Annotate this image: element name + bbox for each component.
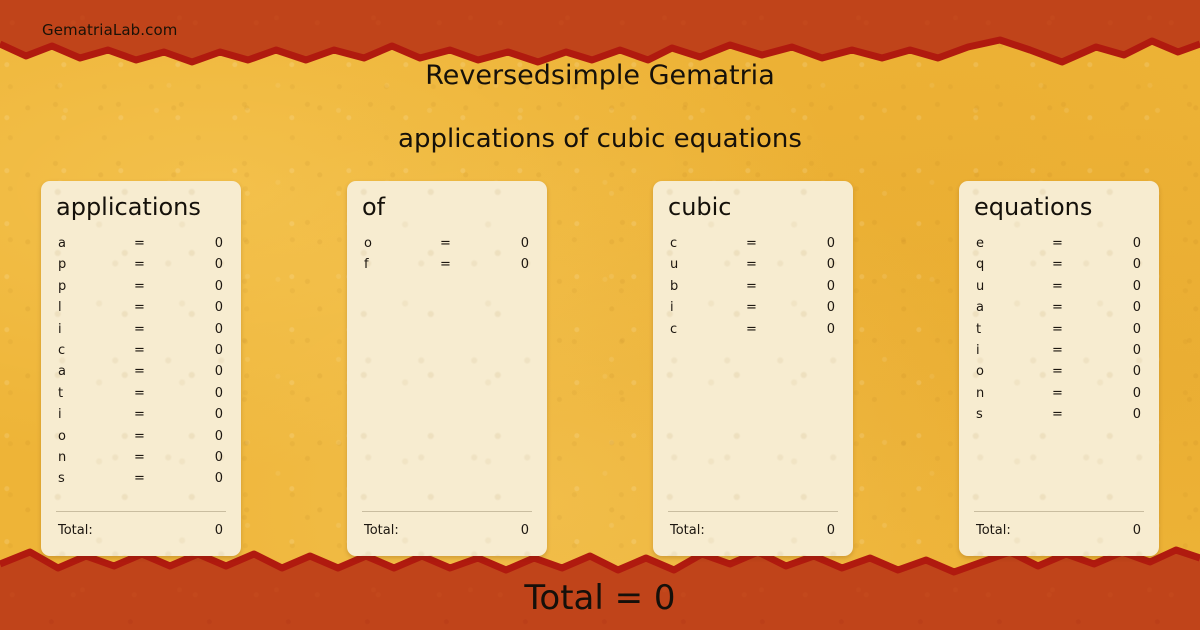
letter-label: u: [976, 279, 984, 294]
equals-sign: =: [1052, 343, 1063, 358]
letter-value: 0: [215, 300, 223, 315]
letter-value: 0: [827, 279, 835, 294]
letter-value: 0: [1133, 236, 1141, 251]
letter-row: e=0: [974, 236, 1144, 257]
card-total-label: Total:: [364, 523, 399, 538]
letter-value: 0: [1133, 364, 1141, 379]
card-total-value: 0: [521, 523, 529, 538]
card-total-label: Total:: [58, 523, 93, 538]
letter-value: 0: [215, 429, 223, 444]
site-brand[interactable]: GematriaLab.com: [42, 21, 177, 39]
letter-value: 0: [215, 471, 223, 486]
equals-sign: =: [134, 279, 145, 294]
letter-label: a: [58, 364, 66, 379]
equals-sign: =: [134, 429, 145, 444]
equals-sign: =: [746, 279, 757, 294]
grand-total: Total = 0: [0, 578, 1200, 618]
letter-row: f=0: [362, 257, 532, 278]
letter-label: o: [364, 236, 372, 251]
letter-value: 0: [215, 257, 223, 272]
letter-label: a: [58, 236, 66, 251]
card-divider: [56, 511, 226, 512]
card-content: ofo=0f=0Total:0: [347, 181, 547, 556]
equals-sign: =: [746, 236, 757, 251]
letter-value: 0: [1133, 257, 1141, 272]
word-card: cubicc=0u=0b=0i=0c=0Total:0: [653, 181, 853, 556]
equals-sign: =: [134, 343, 145, 358]
letter-row: o=0: [974, 364, 1144, 385]
letter-label: f: [364, 257, 369, 272]
letter-label: c: [58, 343, 65, 358]
equals-sign: =: [134, 364, 145, 379]
letter-row: b=0: [668, 279, 838, 300]
letter-row: q=0: [974, 257, 1144, 278]
letter-row: i=0: [56, 407, 226, 428]
card-word-title: applications: [56, 194, 201, 220]
equals-sign: =: [1052, 300, 1063, 315]
letter-value: 0: [1133, 322, 1141, 337]
letter-value: 0: [215, 343, 223, 358]
word-card: equationse=0q=0u=0a=0t=0i=0o=0n=0s=0Tota…: [959, 181, 1159, 556]
letter-value: 0: [215, 407, 223, 422]
equals-sign: =: [1052, 279, 1063, 294]
letter-value: 0: [215, 279, 223, 294]
equals-sign: =: [746, 300, 757, 315]
letter-row: n=0: [56, 450, 226, 471]
letter-label: p: [58, 257, 66, 272]
letter-label: i: [670, 300, 674, 315]
page-subtitle: applications of cubic equations: [0, 124, 1200, 154]
letter-row: s=0: [56, 471, 226, 492]
letter-label: p: [58, 279, 66, 294]
card-content: applicationsa=0p=0p=0l=0i=0c=0a=0t=0i=0o…: [41, 181, 241, 556]
letter-value-rows: e=0q=0u=0a=0t=0i=0o=0n=0s=0: [974, 236, 1144, 429]
card-total-label: Total:: [670, 523, 705, 538]
letter-label: l: [58, 300, 62, 315]
letter-value: 0: [215, 386, 223, 401]
letter-value-rows: c=0u=0b=0i=0c=0: [668, 236, 838, 343]
letter-label: q: [976, 257, 984, 272]
equals-sign: =: [440, 257, 451, 272]
equals-sign: =: [1052, 407, 1063, 422]
letter-value: 0: [215, 450, 223, 465]
letter-label: u: [670, 257, 678, 272]
equals-sign: =: [746, 322, 757, 337]
letter-value: 0: [1133, 300, 1141, 315]
letter-row: c=0: [56, 343, 226, 364]
equals-sign: =: [134, 322, 145, 337]
card-total-row: Total:0: [362, 523, 532, 543]
equals-sign: =: [134, 450, 145, 465]
equals-sign: =: [134, 471, 145, 486]
card-divider: [974, 511, 1144, 512]
card-total-value: 0: [1133, 523, 1141, 538]
equals-sign: =: [440, 236, 451, 251]
letter-value: 0: [1133, 279, 1141, 294]
letter-value: 0: [521, 257, 529, 272]
equals-sign: =: [1052, 257, 1063, 272]
card-total-row: Total:0: [56, 523, 226, 543]
letter-row: c=0: [668, 236, 838, 257]
letter-value: 0: [1133, 386, 1141, 401]
equals-sign: =: [134, 257, 145, 272]
card-divider: [668, 511, 838, 512]
card-content: cubicc=0u=0b=0i=0c=0Total:0: [653, 181, 853, 556]
letter-label: s: [58, 471, 65, 486]
letter-value-rows: a=0p=0p=0l=0i=0c=0a=0t=0i=0o=0n=0s=0: [56, 236, 226, 493]
letter-value: 0: [827, 257, 835, 272]
page-title: Reversedsimple Gematria: [0, 60, 1200, 91]
letter-value: 0: [215, 364, 223, 379]
equals-sign: =: [1052, 386, 1063, 401]
equals-sign: =: [1052, 322, 1063, 337]
word-card: applicationsa=0p=0p=0l=0i=0c=0a=0t=0i=0o…: [41, 181, 241, 556]
letter-row: i=0: [56, 322, 226, 343]
letter-label: i: [58, 322, 62, 337]
equals-sign: =: [134, 300, 145, 315]
letter-row: n=0: [974, 386, 1144, 407]
letter-label: a: [976, 300, 984, 315]
letter-value: 0: [827, 300, 835, 315]
card-divider: [362, 511, 532, 512]
letter-label: t: [58, 386, 63, 401]
equals-sign: =: [134, 236, 145, 251]
letter-label: n: [976, 386, 984, 401]
letter-row: a=0: [974, 300, 1144, 321]
letter-row: t=0: [56, 386, 226, 407]
letter-value: 0: [215, 322, 223, 337]
letter-row: c=0: [668, 322, 838, 343]
letter-row: p=0: [56, 279, 226, 300]
word-card: ofo=0f=0Total:0: [347, 181, 547, 556]
card-total-row: Total:0: [974, 523, 1144, 543]
card-total-label: Total:: [976, 523, 1011, 538]
card-word-title: equations: [974, 194, 1092, 220]
letter-label: c: [670, 322, 677, 337]
letter-value-rows: o=0f=0: [362, 236, 532, 279]
card-total-value: 0: [215, 523, 223, 538]
letter-label: o: [58, 429, 66, 444]
letter-label: i: [976, 343, 980, 358]
equals-sign: =: [1052, 236, 1063, 251]
letter-row: u=0: [668, 257, 838, 278]
letter-label: n: [58, 450, 66, 465]
card-content: equationse=0q=0u=0a=0t=0i=0o=0n=0s=0Tota…: [959, 181, 1159, 556]
letter-row: u=0: [974, 279, 1144, 300]
letter-value: 0: [827, 236, 835, 251]
letter-row: l=0: [56, 300, 226, 321]
equals-sign: =: [746, 257, 757, 272]
letter-row: o=0: [56, 429, 226, 450]
card-word-title: of: [362, 194, 385, 220]
card-total-value: 0: [827, 523, 835, 538]
letter-label: s: [976, 407, 983, 422]
letter-row: s=0: [974, 407, 1144, 428]
letter-row: o=0: [362, 236, 532, 257]
letter-value: 0: [521, 236, 529, 251]
letter-row: t=0: [974, 322, 1144, 343]
letter-value: 0: [1133, 407, 1141, 422]
letter-row: i=0: [668, 300, 838, 321]
letter-value: 0: [215, 236, 223, 251]
letter-row: p=0: [56, 257, 226, 278]
word-card-list: applicationsa=0p=0p=0l=0i=0c=0a=0t=0i=0o…: [0, 181, 1200, 557]
letter-label: t: [976, 322, 981, 337]
card-total-row: Total:0: [668, 523, 838, 543]
letter-row: i=0: [974, 343, 1144, 364]
letter-row: a=0: [56, 364, 226, 385]
card-word-title: cubic: [668, 194, 732, 220]
letter-row: a=0: [56, 236, 226, 257]
letter-label: o: [976, 364, 984, 379]
equals-sign: =: [1052, 364, 1063, 379]
letter-value: 0: [1133, 343, 1141, 358]
equals-sign: =: [134, 386, 145, 401]
letter-label: e: [976, 236, 984, 251]
letter-label: i: [58, 407, 62, 422]
letter-label: b: [670, 279, 678, 294]
letter-label: c: [670, 236, 677, 251]
equals-sign: =: [134, 407, 145, 422]
letter-value: 0: [827, 322, 835, 337]
